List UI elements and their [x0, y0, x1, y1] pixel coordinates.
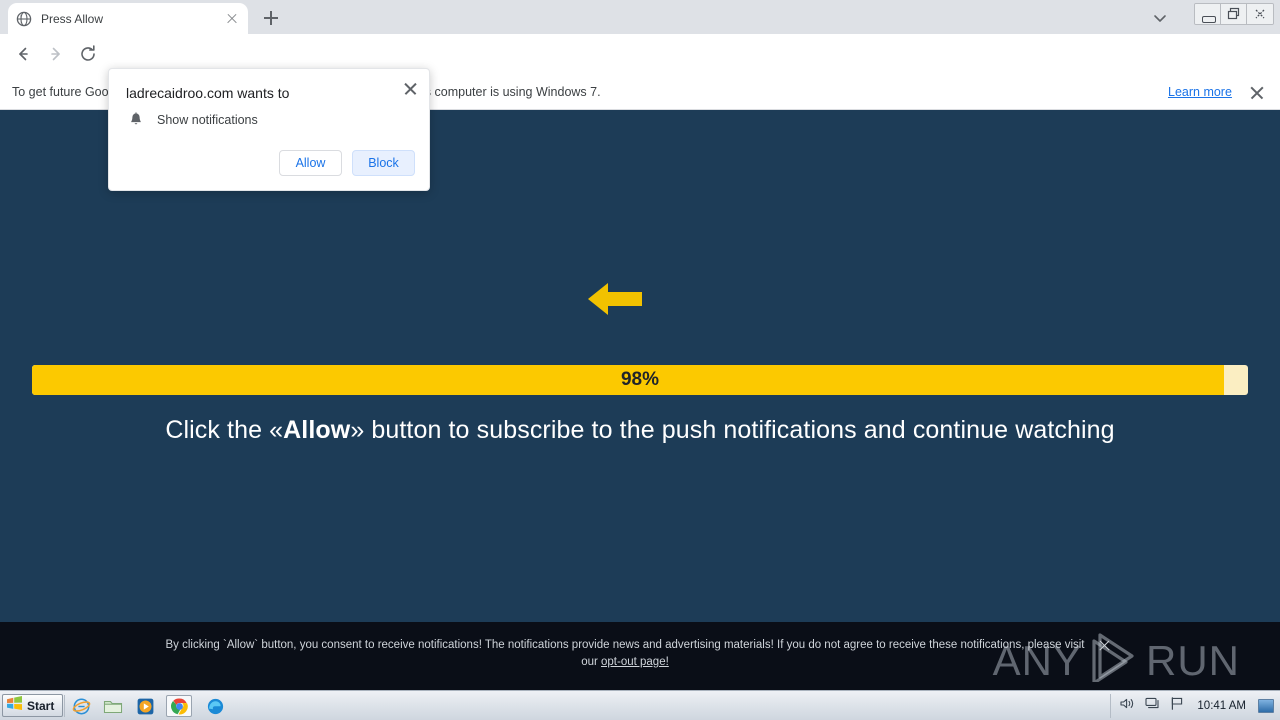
restore-icon[interactable] — [1221, 4, 1247, 24]
globe-icon — [16, 11, 32, 27]
progress-percent-label: 98% — [32, 365, 1248, 395]
new-tab-button[interactable] — [258, 5, 284, 31]
minimize-icon[interactable] — [1195, 4, 1221, 24]
taskbar-clock[interactable]: 10:41 AM — [1197, 700, 1246, 712]
taskbar-item-google-chrome[interactable] — [166, 695, 192, 717]
flag-icon[interactable] — [1169, 696, 1185, 716]
bell-icon — [127, 111, 145, 129]
play-triangle-icon — [1086, 630, 1142, 690]
headline-allow-word: Allow — [283, 416, 350, 444]
reload-button[interactable] — [77, 43, 99, 65]
windows-taskbar: Start — [0, 690, 1280, 720]
arrow-left-icon — [588, 280, 642, 323]
permission-row: Show notifications — [127, 111, 258, 129]
close-icon[interactable] — [1247, 4, 1273, 24]
opt-out-link[interactable]: opt-out page! — [601, 656, 669, 668]
internet-explorer-icon — [72, 697, 91, 716]
forward-button[interactable] — [45, 43, 67, 65]
consent-footer: ANY RUN By clicking `Allow` button, you … — [0, 622, 1280, 690]
infobar-close-icon[interactable] — [1249, 84, 1265, 100]
start-button[interactable]: Start — [2, 694, 63, 717]
browser-window: Press Allow — [0, 0, 1280, 720]
progress-bar: 98% — [32, 365, 1248, 395]
tab-close-icon[interactable] — [224, 11, 240, 27]
system-tray: 10:41 AM — [1110, 694, 1278, 718]
start-label: Start — [27, 699, 54, 713]
consent-text: By clicking `Allow` button, you consent … — [160, 637, 1090, 671]
permission-dialog-title: ladrecaidroo.com wants to — [126, 85, 289, 101]
chevron-down-icon[interactable] — [1150, 8, 1170, 28]
permission-dialog-buttons: Allow Block — [279, 150, 415, 176]
taskbar-item-media-player[interactable] — [132, 695, 158, 717]
windows-logo-icon — [6, 695, 23, 716]
block-button[interactable]: Block — [352, 150, 415, 176]
back-button[interactable] — [12, 43, 34, 65]
tab-title: Press Allow — [41, 12, 224, 26]
chrome-icon — [170, 697, 189, 716]
network-icon[interactable] — [1144, 696, 1161, 716]
watermark-text-right: RUN — [1146, 637, 1240, 685]
show-desktop-icon[interactable] — [1258, 699, 1274, 713]
consent-line-1: By clicking `Allow` button, you consent … — [165, 639, 1024, 651]
taskbar-item-microsoft-edge[interactable] — [202, 695, 228, 717]
notification-permission-dialog: ladrecaidroo.com wants to Show notificat… — [108, 68, 430, 191]
edge-icon — [206, 697, 225, 716]
learn-more-link[interactable]: Learn more — [1168, 85, 1232, 99]
browser-tab[interactable]: Press Allow — [8, 3, 248, 34]
folder-icon — [103, 698, 123, 715]
taskbar-item-windows-explorer[interactable] — [100, 695, 126, 717]
page-viewport: 98% Click the «Allow» button to subscrib… — [0, 110, 1280, 690]
tab-strip: Press Allow — [0, 0, 1280, 34]
window-controls — [1194, 3, 1274, 25]
media-player-icon — [136, 697, 155, 716]
page-headline: Click the «Allow» button to subscribe to… — [0, 416, 1280, 445]
permission-label: Show notifications — [157, 113, 258, 127]
headline-after: » button to subscribe to the push notifi… — [350, 416, 1114, 444]
headline-before: Click the « — [165, 416, 283, 444]
volume-icon[interactable] — [1119, 696, 1136, 716]
permission-dialog-close-icon[interactable] — [403, 80, 418, 95]
taskbar-item-internet-explorer[interactable] — [68, 695, 94, 717]
watermark-close-icon[interactable] — [1098, 638, 1111, 651]
allow-button[interactable]: Allow — [279, 150, 342, 176]
